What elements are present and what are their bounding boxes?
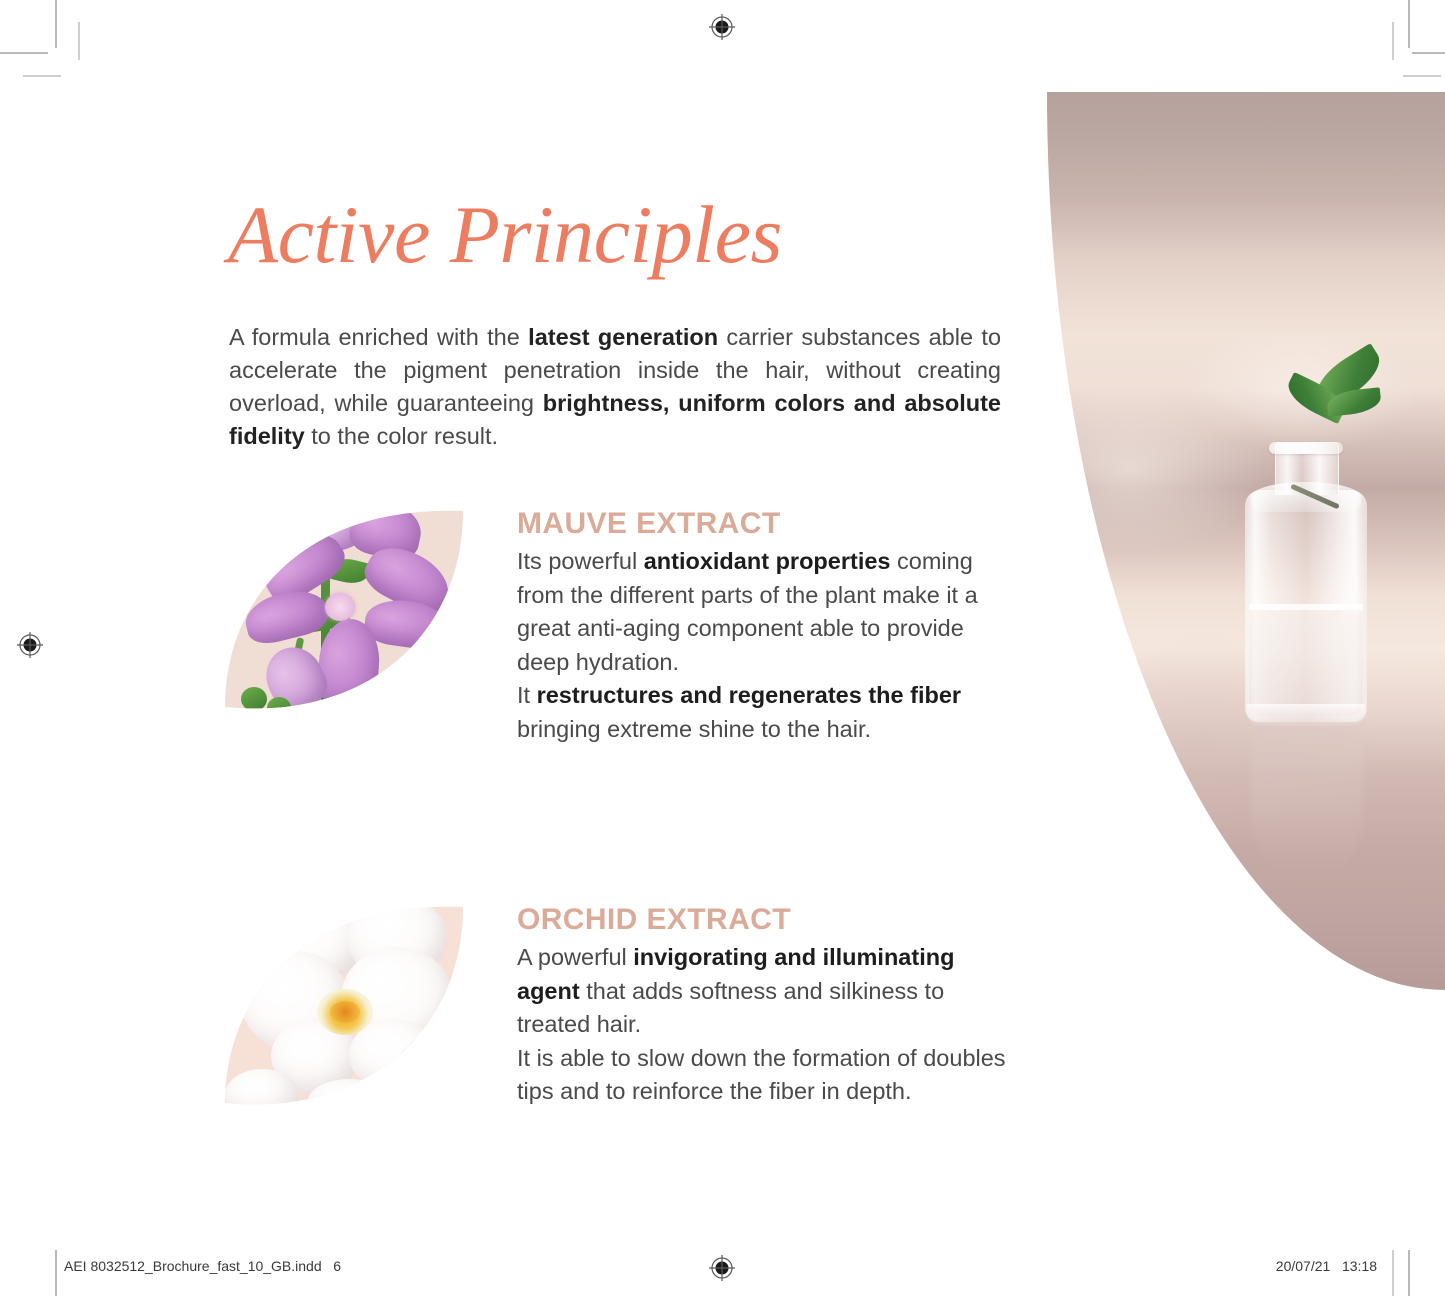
- crop-mark-bottom-right-bleed-vertical: [1392, 1250, 1394, 1296]
- orchid-body: A powerful invigorating and illuminating…: [517, 941, 1022, 1109]
- vial-lip: [1269, 442, 1343, 454]
- crop-mark-bottom-left-vertical: [55, 1250, 57, 1296]
- vial-base: [1247, 704, 1365, 726]
- mauve-text-block: MAUVE EXTRACT Its powerful antioxidant p…: [517, 507, 1022, 746]
- registration-mark-bottom-center: [709, 1255, 735, 1281]
- mauve-heading: MAUVE EXTRACT: [517, 507, 1022, 541]
- orchid-flower-photo: [215, 893, 473, 1125]
- mauve-body: Its powerful antioxidant properties comi…: [517, 545, 1022, 746]
- mauve-flower-artwork: [215, 497, 473, 729]
- hero-bokeh-overlay: [1040, 92, 1445, 992]
- orchid-heading: ORCHID EXTRACT: [517, 903, 1022, 937]
- vial-reflection: [1251, 726, 1363, 876]
- crop-mark-top-left-vertical: [55, 0, 57, 48]
- crop-mark-top-right-horizontal: [1412, 52, 1445, 54]
- flower-pistil: [325, 593, 355, 621]
- flower-petal: [241, 584, 332, 648]
- intro-paragraph: A formula enriched with the latest gener…: [229, 321, 1001, 453]
- orchid-center: [330, 1001, 360, 1023]
- footer-filename: AEI 8032512_Brochure_fast_10_GB.indd 6: [64, 1258, 341, 1274]
- crop-mark-top-left-horizontal: [0, 52, 48, 54]
- crop-mark-top-right-vertical: [1408, 0, 1410, 48]
- footer-timestamp: 20/07/21 13:18: [1276, 1258, 1377, 1274]
- orchid-petal: [307, 1079, 391, 1125]
- brochure-page: Active Principles A formula enriched wit…: [0, 0, 1445, 1296]
- glass-vial: [1245, 442, 1367, 742]
- crop-mark-top-right-bleed-horizontal: [1403, 75, 1441, 77]
- flower-bud: [241, 687, 267, 711]
- crop-mark-top-left-bleed-vertical: [78, 22, 80, 60]
- orchid-text-block: ORCHID EXTRACT A powerful invigorating a…: [517, 903, 1022, 1109]
- orchid-flower-artwork: [215, 893, 473, 1125]
- mauve-flower-photo: [215, 497, 473, 729]
- vial-water: [1249, 604, 1363, 716]
- registration-mark-top-center: [709, 14, 735, 40]
- page-title: Active Principles: [228, 188, 782, 282]
- hero-image-glass-vial: [1040, 92, 1445, 992]
- registration-mark-left-center: [17, 632, 43, 658]
- crop-mark-top-right-bleed-vertical: [1392, 22, 1394, 60]
- crop-mark-bottom-right-vertical: [1408, 1250, 1410, 1296]
- orchid-petal: [225, 1069, 299, 1121]
- flower-bud: [267, 697, 291, 719]
- crop-mark-top-left-bleed-horizontal: [23, 75, 61, 77]
